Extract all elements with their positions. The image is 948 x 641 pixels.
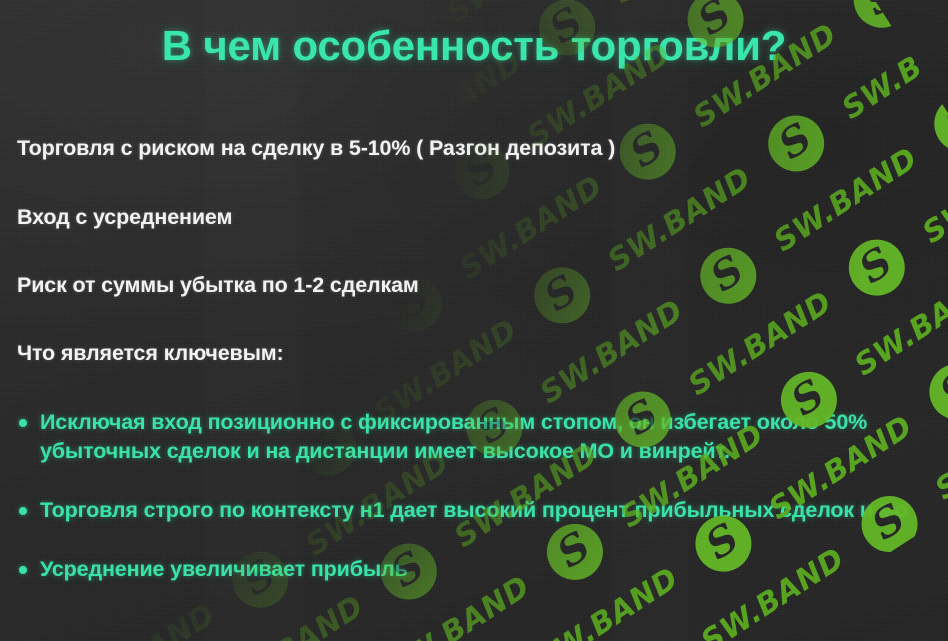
list-item: Исключая вход позиционно с фиксированным…: [17, 408, 920, 466]
key-points-list: Исключая вход позиционно с фиксированным…: [17, 408, 948, 585]
slide-title: В чем особенность торговли?: [0, 22, 948, 70]
list-item: Усреднение увеличивает прибыль: [17, 555, 948, 584]
statement-averaging-entry: Вход с усреднением: [17, 204, 948, 232]
statement-key-points-heading: Что является ключевым:: [17, 340, 948, 368]
statement-risk-per-trade: Торговля с риском на сделку в 5-10% ( Ра…: [17, 135, 948, 163]
slide-content: В чем особенность торговли? Торговля с р…: [0, 0, 948, 641]
presentation-slide: В чем особенность торговли? Торговля с р…: [0, 0, 948, 641]
statement-risk-from-loss: Риск от суммы убытка по 1-2 сделкам: [17, 272, 948, 300]
slide-body: Торговля с риском на сделку в 5-10% ( Ра…: [17, 135, 948, 585]
list-item: Торговля строго по контексту н1 дает выс…: [17, 496, 948, 525]
